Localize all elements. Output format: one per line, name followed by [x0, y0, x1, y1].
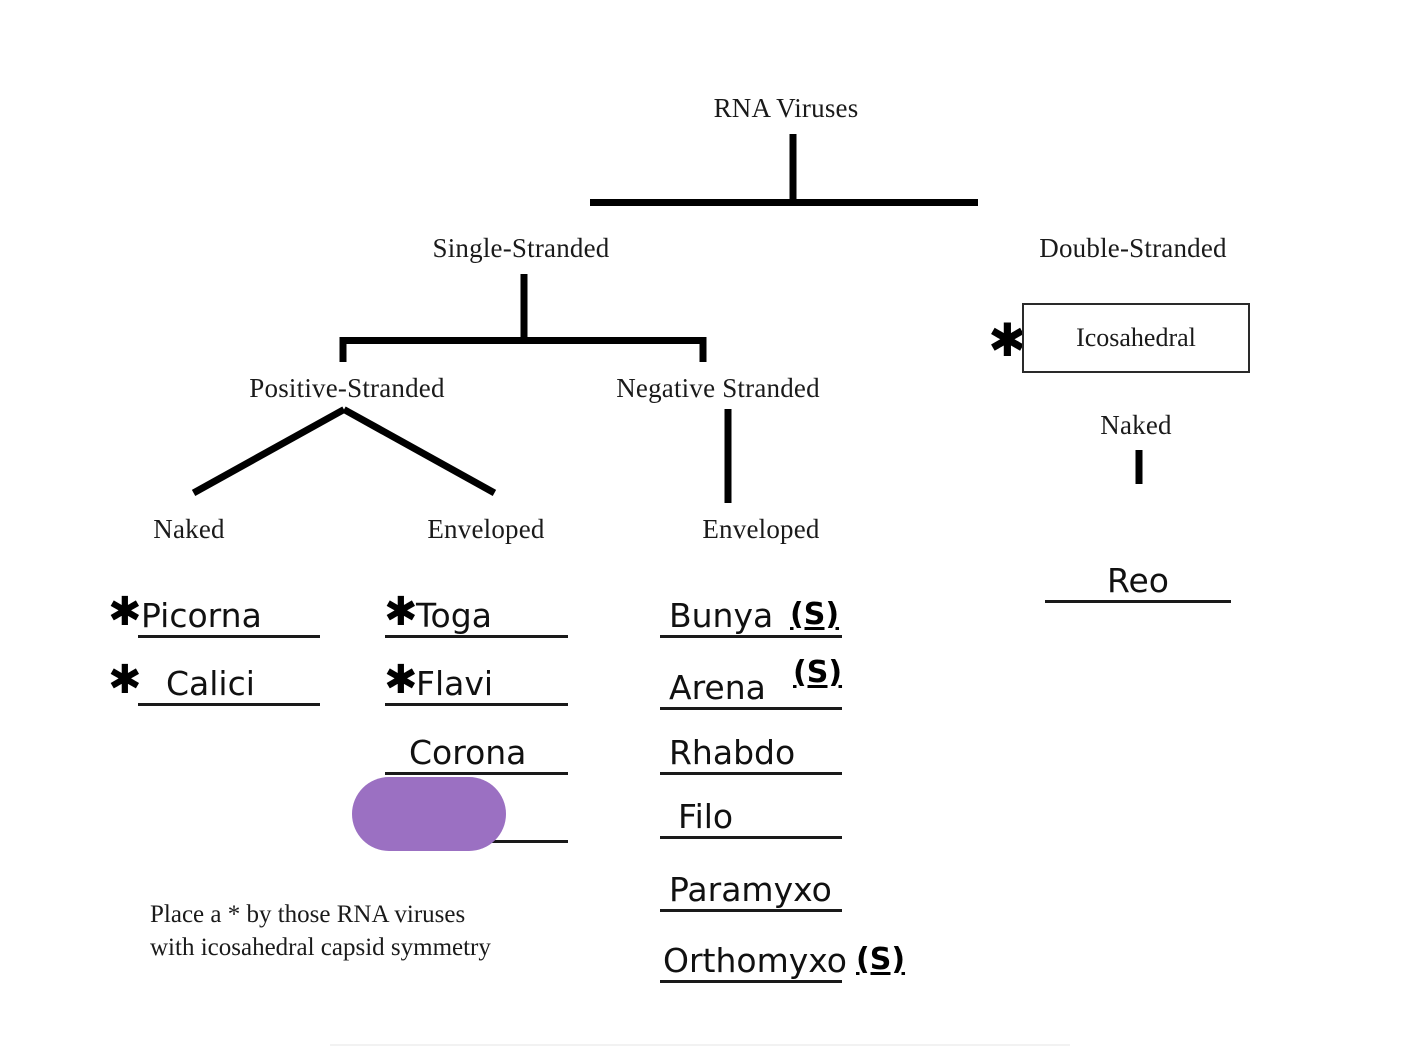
node-single-stranded: Single-Stranded [433, 235, 610, 262]
connector-single-stranded-stem [521, 274, 528, 342]
connector-positive-left-arm [192, 406, 346, 496]
entry-reo[interactable]: Reo [1045, 545, 1231, 603]
entry-asterisk: ✱ [108, 592, 142, 632]
node-rna-viruses: RNA Viruses [714, 95, 859, 122]
entry-name: Toga [416, 599, 492, 632]
entry-bunya[interactable]: Bunya (S) [660, 580, 842, 638]
entry-flavi[interactable]: ✱ Flavi [385, 648, 568, 706]
connector-ss-bracket-left-stub [340, 337, 347, 362]
connector-root-stem [790, 134, 797, 206]
entry-s-flag: (S) [790, 600, 839, 630]
entry-orthomyxo[interactable]: Orthomyxo (S) [660, 925, 842, 983]
entry-name: Filo [678, 800, 733, 833]
entry-asterisk: ✱ [384, 592, 418, 632]
node-icosahedral-label: Icosahedral [1076, 323, 1196, 353]
entry-name: Bunya [669, 599, 773, 632]
entry-name: Calici [166, 667, 255, 700]
entry-rule [660, 772, 842, 775]
instruction-note: Place a * by those RNA viruses with icos… [150, 898, 610, 964]
entry-name: Paramyxo [669, 873, 832, 906]
purple-redaction-blob [352, 777, 506, 851]
entry-toga[interactable]: ✱ Toga [385, 580, 568, 638]
connector-ss-bracket-right-stub [700, 337, 707, 362]
entry-name: Flavi [416, 667, 493, 700]
entry-s-flag: (S) [856, 945, 905, 975]
entry-rule [138, 635, 320, 638]
entry-name: Rhabdo [669, 736, 795, 769]
entry-asterisk: ✱ [384, 660, 418, 700]
entry-name: Picorna [141, 599, 262, 632]
entry-s-flag: (S) [793, 658, 842, 688]
page-edge-artifact [330, 1044, 1070, 1046]
entry-rhabdo[interactable]: Rhabdo [660, 717, 842, 775]
node-negative-stranded: Negative Stranded [616, 375, 820, 402]
entry-asterisk: ✱ [108, 660, 142, 700]
connector-root-bar [590, 199, 978, 206]
entry-rule [660, 707, 842, 710]
entry-rule [1045, 600, 1231, 603]
heading-double-naked: Naked [1100, 412, 1171, 439]
node-positive-stranded: Positive-Stranded [249, 375, 444, 402]
node-double-stranded: Double-Stranded [1039, 235, 1226, 262]
entry-name: Reo [1107, 564, 1169, 597]
entry-name: Orthomyxo [663, 944, 847, 977]
entry-name: Corona [409, 736, 526, 769]
heading-negative-enveloped: Enveloped [702, 516, 819, 543]
node-icosahedral-box: Icosahedral [1022, 303, 1250, 373]
entry-arena[interactable]: Arena (S) [660, 652, 842, 710]
connector-positive-right-arm [342, 406, 496, 496]
entry-rule [385, 772, 568, 775]
entry-picorna[interactable]: ✱ Picorna [138, 580, 320, 638]
entry-rule [660, 909, 842, 912]
entry-rule [385, 703, 568, 706]
entry-filo[interactable]: Filo [660, 781, 842, 839]
entry-name: Arena [669, 671, 766, 704]
connector-double-naked-stem [1136, 450, 1143, 484]
entry-rule [660, 980, 842, 983]
entry-rule [138, 703, 320, 706]
entry-rule [660, 836, 842, 839]
entry-rule [660, 635, 842, 638]
entry-rule [385, 635, 568, 638]
connector-negative-stranded-stem [725, 409, 732, 503]
connector-ss-bracket-bar [340, 337, 706, 344]
icosahedral-asterisk-marker: ✱ [988, 317, 1027, 363]
heading-positive-enveloped: Enveloped [427, 516, 544, 543]
entry-calici[interactable]: ✱ Calici [138, 648, 320, 706]
entry-paramyxo[interactable]: Paramyxo [660, 854, 842, 912]
heading-positive-naked: Naked [153, 516, 224, 543]
diagram-canvas: RNA Viruses Single-Stranded Double-Stran… [0, 0, 1411, 1049]
entry-corona[interactable]: Corona [385, 717, 568, 775]
